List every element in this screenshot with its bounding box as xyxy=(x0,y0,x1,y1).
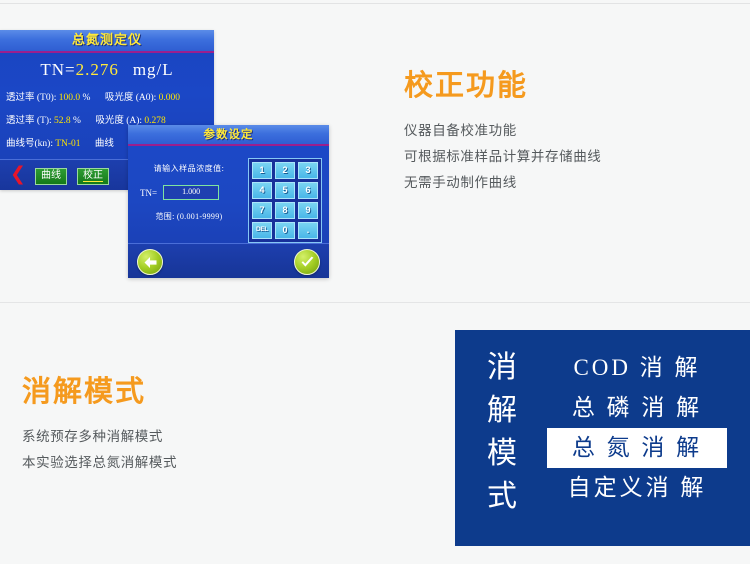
transmittance-zero-label: 透过率 (T0): xyxy=(6,89,56,103)
parameter-setting-dialog: 参数设定 请输入样品浓度值: TN= 1.000 范围: (0.001-9999… xyxy=(128,125,329,278)
absorbance-zero-label: 吸光度 (A0): xyxy=(105,89,156,103)
tn-result-label: TN= xyxy=(40,60,75,79)
section-divider xyxy=(0,302,750,303)
key-7[interactable]: 7 xyxy=(252,202,272,219)
key-decimal-point[interactable]: . xyxy=(298,222,318,239)
calibration-line: 仪器自备校准功能 xyxy=(404,118,601,144)
transmittance-label: 透过率 (T): xyxy=(6,112,52,126)
digestion-line: 系统预存多种消解模式 xyxy=(22,424,177,450)
digestion-mode-panel: 消解模式 COD 消 解 总 磷 消 解 总 氮 消 解 自定义消 解 xyxy=(455,330,750,546)
curve-number-value: TN-01 xyxy=(55,139,80,149)
device-screen-main-titlebar: 总氮测定仪 xyxy=(0,30,214,53)
key-8[interactable]: 8 xyxy=(275,202,295,219)
calibrate-button-label: 校正 xyxy=(83,170,103,182)
calibration-line: 无需手动制作曲线 xyxy=(404,170,601,196)
absorbance-zero-value: 0.000 xyxy=(159,93,180,103)
digestion-mode-list: COD 消 解 总 磷 消 解 总 氮 消 解 自定义消 解 xyxy=(547,348,727,508)
transmittance-value: 52.8 xyxy=(54,116,71,126)
curve-secondary-label: 曲线 xyxy=(95,135,114,149)
key-5[interactable]: 5 xyxy=(275,182,295,199)
curve-number-label: 曲线号(kn): xyxy=(6,135,53,149)
tn-result-value: 2.276 xyxy=(76,60,119,79)
range-hint: 范围: (0.001-9999) xyxy=(134,211,244,222)
arrow-left-circle-icon[interactable] xyxy=(137,249,163,275)
calibrate-button[interactable]: 校正 xyxy=(77,168,109,185)
key-delete[interactable]: DEL xyxy=(252,222,272,239)
key-3[interactable]: 3 xyxy=(298,162,318,179)
calibration-description: 仪器自备校准功能 可根据标准样品计算并存储曲线 无需手动制作曲线 xyxy=(404,118,601,196)
curve-button-label: 曲线 xyxy=(41,170,61,181)
mode-option-total-nitrogen[interactable]: 总 氮 消 解 xyxy=(547,428,727,468)
digestion-line: 本实验选择总氮消解模式 xyxy=(22,450,177,476)
calibration-heading: 校正功能 xyxy=(404,62,528,104)
parameter-dialog-form: 请输入样品浓度值: TN= 1.000 范围: (0.001-9999) xyxy=(134,153,244,222)
numeric-keypad: 1 2 3 4 5 6 7 8 9 DEL 0 . xyxy=(248,158,322,243)
parameter-dialog-title: 参数设定 xyxy=(204,129,254,141)
concentration-prompt: 请输入样品浓度值: xyxy=(134,163,244,174)
key-4[interactable]: 4 xyxy=(252,182,272,199)
transmittance-unit: % xyxy=(73,116,81,126)
digestion-mode-vertical-label: 消解模式 xyxy=(479,346,525,518)
check-circle-icon[interactable] xyxy=(294,249,320,275)
tn-result-line: TN=2.276mg/L xyxy=(6,60,208,80)
key-2[interactable]: 2 xyxy=(275,162,295,179)
digestion-heading: 消解模式 xyxy=(22,368,146,410)
parameter-dialog-footer xyxy=(128,243,329,278)
mode-option-total-phosphorus[interactable]: 总 磷 消 解 xyxy=(547,388,727,428)
key-0[interactable]: 0 xyxy=(275,222,295,239)
tn-input-label: TN= xyxy=(140,188,157,198)
tn-input-field[interactable]: 1.000 xyxy=(163,185,219,200)
calibration-line: 可根据标准样品计算并存储曲线 xyxy=(404,144,601,170)
tn-input-group: TN= 1.000 xyxy=(134,185,244,200)
transmittance-zero-value: 100.0 xyxy=(59,93,80,103)
key-6[interactable]: 6 xyxy=(298,182,318,199)
top-divider xyxy=(0,3,750,4)
digestion-description: 系统预存多种消解模式 本实验选择总氮消解模式 xyxy=(22,424,177,476)
key-1[interactable]: 1 xyxy=(252,162,272,179)
mode-option-cod[interactable]: COD 消 解 xyxy=(547,348,727,388)
parameter-dialog-titlebar: 参数设定 xyxy=(128,125,329,146)
measurement-row: 透过率 (T0): 100.0 % 吸光度 (A0): 0.000 xyxy=(6,89,208,103)
tn-result-unit: mg/L xyxy=(133,60,174,79)
curve-button[interactable]: 曲线 xyxy=(35,168,67,185)
mode-option-custom[interactable]: 自定义消 解 xyxy=(547,468,727,508)
key-9[interactable]: 9 xyxy=(298,202,318,219)
absorbance-label: 吸光度 (A): xyxy=(95,112,142,126)
device-screen-main-title: 总氮测定仪 xyxy=(72,32,142,47)
chevron-left-icon[interactable]: ❮ xyxy=(10,166,22,184)
measurement-row: 透过率 (T): 52.8 % 吸光度 (A): 0.278 xyxy=(6,112,208,126)
transmittance-zero-unit: % xyxy=(83,93,91,103)
